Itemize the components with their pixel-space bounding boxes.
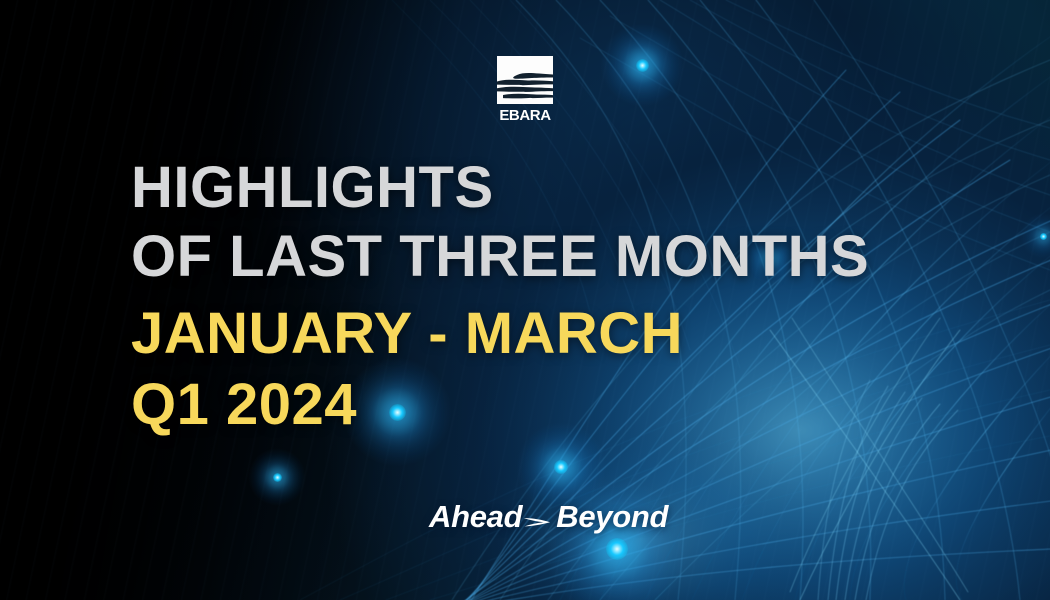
tagline-word-ahead: Ahead bbox=[429, 499, 522, 535]
headline-block: HIGHLIGHTS OF LAST THREE MONTHS JANUARY … bbox=[131, 152, 869, 440]
arrow-right-icon bbox=[523, 503, 553, 539]
tagline-word-beyond: Beyond bbox=[556, 499, 668, 535]
ebara-logo-mark bbox=[497, 56, 553, 104]
headline-line-1: HIGHLIGHTS bbox=[131, 152, 869, 223]
headline-line-2: OF LAST THREE MONTHS bbox=[131, 221, 869, 292]
headline-line-4: Q1 2024 bbox=[131, 369, 869, 440]
tagline: Ahead Beyond bbox=[429, 499, 668, 535]
ebara-logo: EBARA bbox=[497, 56, 553, 123]
headline-line-3: JANUARY - MARCH bbox=[131, 298, 869, 369]
svg-text:EBARA: EBARA bbox=[499, 107, 551, 123]
ebara-wordmark: EBARA bbox=[497, 106, 553, 123]
title-slide: EBARA HIGHLIGHTS OF LAST THREE MONTHS JA… bbox=[0, 0, 1050, 600]
